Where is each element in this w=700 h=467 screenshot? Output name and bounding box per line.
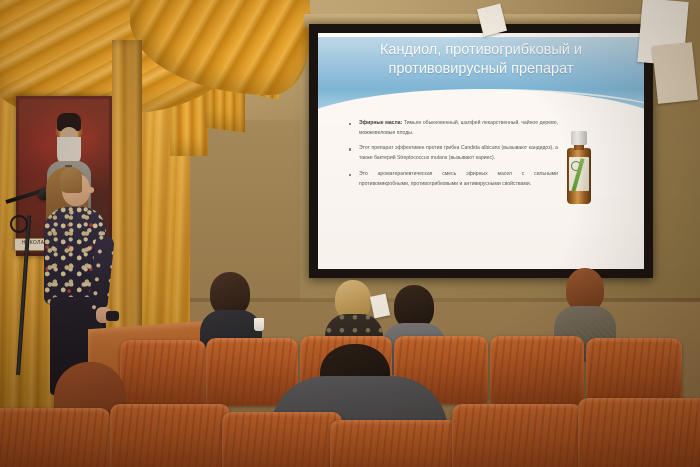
auditorium-seat	[578, 398, 700, 467]
microphone-clamp	[10, 215, 28, 233]
presentation-photo-scene: НИКОЛАЙ Кандиол, противогрибковый и прот…	[0, 0, 700, 467]
slide-bullet-list: Эфирные масла: Тимьян обыкновенный, шалф…	[348, 119, 558, 195]
auditorium-seat	[0, 408, 110, 467]
auditorium-seat	[330, 420, 460, 467]
taped-paper-sheet	[652, 42, 698, 104]
slide-bullet-item: Этот препарат эффективен против грибка C…	[348, 144, 558, 164]
bottle-cap	[571, 131, 587, 145]
presentation-slide: Кандиол, противогрибковый и противовирус…	[318, 33, 644, 269]
presenter-hair-front	[60, 167, 82, 193]
presentation-remote[interactable]	[106, 311, 119, 321]
auditorium-seat	[110, 404, 230, 467]
projection-screen-surface: Кандиол, противогрибковый и противовирус…	[318, 33, 644, 269]
slide-bullet-text: Этот препарат эффективен против грибка C…	[359, 145, 558, 161]
auditorium-seat	[452, 404, 582, 467]
slide-bullet-item: Это ароматерапевтическая смесь эфирных м…	[348, 170, 558, 190]
auditorium-seat	[490, 336, 584, 404]
slide-bullet-item: Эфирные масла: Тимьян обыкновенный, шалф…	[348, 119, 558, 139]
projection-screen-frame: Кандиол, противогрибковый и противовирус…	[309, 24, 653, 278]
paper-cup	[254, 318, 264, 331]
slide-bullet-text: Это ароматерапевтическая смесь эфирных м…	[359, 171, 558, 187]
slide-bullet-lead: Эфирные масла:	[359, 120, 402, 126]
presenter-profile-nose	[87, 187, 94, 193]
slide-title: Кандиол, противогрибковый и противовирус…	[334, 41, 628, 79]
bottle-label	[569, 157, 589, 191]
auditorium-seat	[222, 412, 342, 467]
product-bottle-image	[565, 131, 593, 205]
